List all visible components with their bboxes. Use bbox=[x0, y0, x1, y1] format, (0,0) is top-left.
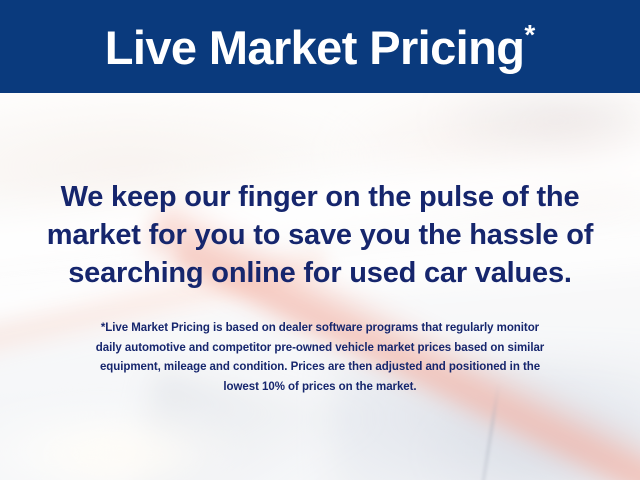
banner-title: Live Market Pricing* bbox=[105, 21, 536, 71]
headline-block: We keep our finger on the pulse of the m… bbox=[0, 178, 640, 292]
fineprint-line-1: *Live Market Pricing is based on dealer … bbox=[0, 319, 640, 339]
fineprint-block: *Live Market Pricing is based on dealer … bbox=[0, 319, 640, 397]
live-market-pricing-ad: Live Market Pricing* We keep our finger … bbox=[0, 0, 640, 480]
headline-line-3: searching online for used car values. bbox=[0, 254, 640, 292]
header-banner: Live Market Pricing* bbox=[0, 0, 640, 93]
footnote-asterisk: * bbox=[524, 19, 535, 50]
headline-line-1: We keep our finger on the pulse of the bbox=[0, 178, 640, 216]
fineprint-line-2: daily automotive and competitor pre-owne… bbox=[0, 339, 640, 359]
headline-line-2: market for you to save you the hassle of bbox=[0, 216, 640, 254]
fineprint-line-3: equipment, mileage and condition. Prices… bbox=[0, 358, 640, 378]
banner-title-text: Live Market Pricing bbox=[105, 21, 525, 74]
fineprint-line-4: lowest 10% of prices on the market. bbox=[0, 378, 640, 398]
